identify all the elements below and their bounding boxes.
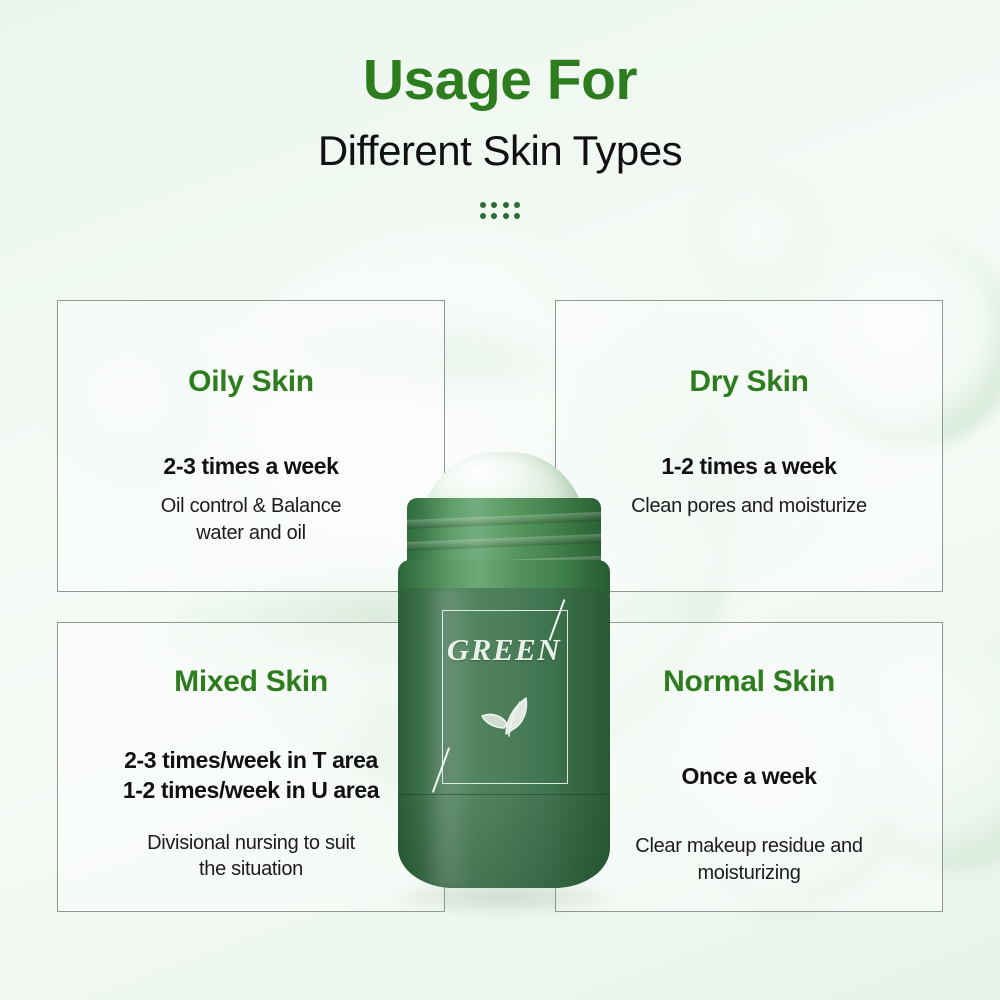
dot-separator [477, 199, 523, 221]
separator-dot [503, 213, 509, 219]
page-subtitle: Different Skin Types [0, 129, 1000, 173]
card-frequency-line: 1-2 times/week in U area [72, 775, 430, 805]
card-frequency-line: 2-3 times/week in T area [72, 745, 430, 775]
card-description-line: Divisional nursing to suit [72, 830, 430, 856]
card-description-line: Clear makeup residue and [570, 833, 928, 859]
product-body: GREEN [398, 588, 610, 888]
card-title-normal-skin: Normal Skin [570, 665, 928, 699]
card-title-mixed-skin: Mixed Skin [72, 665, 430, 699]
card-title-dry-skin: Dry Skin [570, 365, 928, 399]
card-frequency-oily-skin: 2-3 times a week [72, 451, 430, 481]
separator-dot [514, 202, 520, 208]
page-title: Usage For [0, 52, 1000, 109]
separator-dot [514, 213, 520, 219]
card-description-oily-skin: Oil control & Balance water and oil [72, 493, 430, 546]
card-description-line: the situation [72, 856, 430, 882]
product-base-shading [398, 792, 610, 888]
card-title-oily-skin: Oily Skin [72, 365, 430, 399]
card-description-line: moisturizing [570, 860, 928, 886]
card-frequency-dry-skin: 1-2 times a week [570, 451, 928, 481]
separator-dot [503, 202, 509, 208]
separator-dot [491, 213, 497, 219]
header: Usage For Different Skin Types [0, 52, 1000, 221]
card-description-mixed-skin: Divisional nursing to suit the situation [72, 830, 430, 883]
product-image-green-mask-stick: GREEN [386, 452, 622, 906]
product-thread-ring [407, 511, 601, 529]
product-brand-text: GREEN [398, 632, 610, 668]
infographic-stage: Usage For Different Skin Types Oily Skin… [0, 0, 1000, 1000]
card-description-line: Oil control & Balance [72, 493, 430, 519]
separator-dot [480, 213, 486, 219]
card-description-line: water and oil [72, 520, 430, 546]
card-description-line: Clean pores and moisturize [570, 493, 928, 519]
card-frequency-mixed-skin: 2-3 times/week in T area 1-2 times/week … [72, 745, 430, 806]
separator-dot [491, 202, 497, 208]
product-seam-line [398, 794, 610, 795]
card-description-normal-skin: Clear makeup residue and moisturizing [570, 833, 928, 886]
card-frequency-normal-skin: Once a week [570, 761, 928, 791]
leaf-icon [476, 692, 532, 738]
separator-dot [480, 202, 486, 208]
product-thread-ring [407, 533, 601, 551]
card-description-dry-skin: Clean pores and moisturize [570, 493, 928, 519]
